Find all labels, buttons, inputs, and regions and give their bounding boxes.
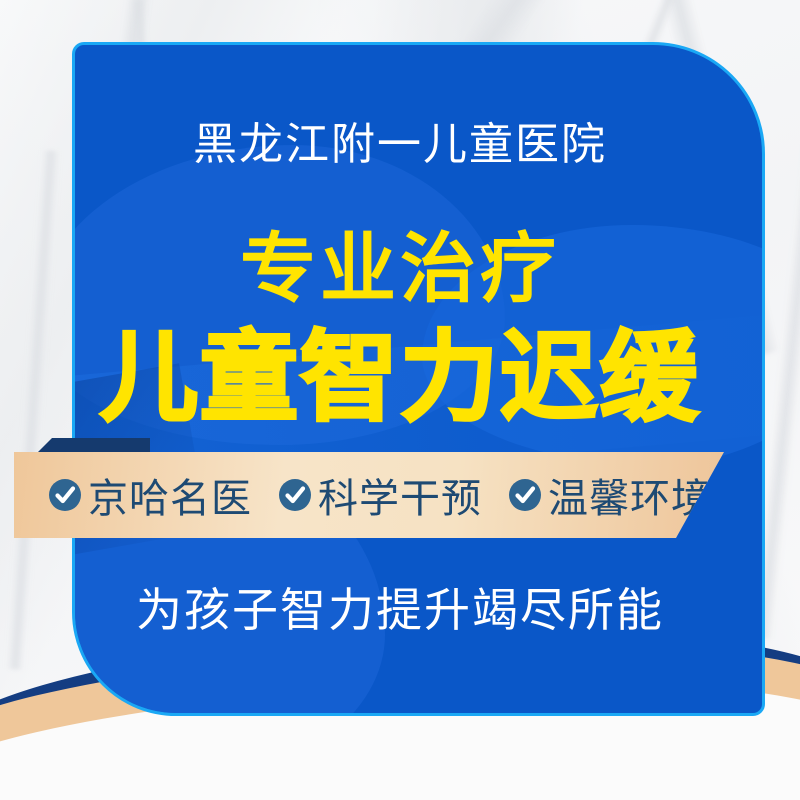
check-circle-icon — [508, 478, 542, 512]
feature-ribbon: 京哈名医 科学干预 温馨环境 — [14, 452, 724, 538]
poster-content: 黑龙江附一儿童医院 专业治疗 儿童智力迟缓 为孩子智力提升竭尽所能 — [0, 0, 800, 800]
feature-label: 温馨环境 — [548, 466, 712, 524]
check-circle-icon — [48, 478, 82, 512]
feature-item-0: 京哈名医 — [48, 466, 252, 524]
feature-item-2: 温馨环境 — [508, 466, 712, 524]
poster-canvas: 黑龙江附一儿童医院 专业治疗 儿童智力迟缓 为孩子智力提升竭尽所能 京哈名医 科… — [0, 0, 800, 800]
check-circle-icon — [278, 478, 312, 512]
tagline: 为孩子智力提升竭尽所能 — [0, 574, 800, 640]
main-headline: 儿童智力迟缓 — [0, 298, 800, 440]
feature-label: 京哈名医 — [88, 466, 252, 524]
feature-item-1: 科学干预 — [278, 466, 482, 524]
hospital-name: 黑龙江附一儿童医院 — [0, 108, 800, 172]
feature-label: 科学干预 — [318, 466, 482, 524]
